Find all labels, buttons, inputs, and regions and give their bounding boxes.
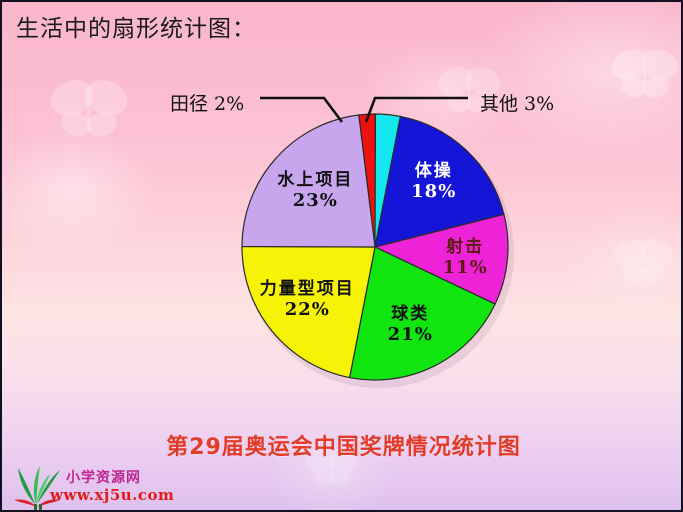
callout-leader-line-tianjing: [260, 98, 342, 122]
logo-site-name: 小学资源网: [66, 467, 141, 487]
callout-label-tianjing: 田径 2%: [170, 89, 244, 116]
slide-canvas: 生活中的扇形统计图： 体操18%射击11%球类21%力量型项目22%水上项目23…: [0, 0, 683, 512]
logo-site-url: www.xj5u.com: [50, 486, 174, 504]
site-logo[interactable]: 小学资源网 www.xj5u.com: [10, 464, 190, 512]
chart-caption: 第29届奥运会中国奖牌情况统计图: [2, 429, 683, 461]
callout-label-qita: 其他 3%: [480, 89, 554, 116]
pie-slice-水上项目[interactable]: [242, 115, 375, 247]
